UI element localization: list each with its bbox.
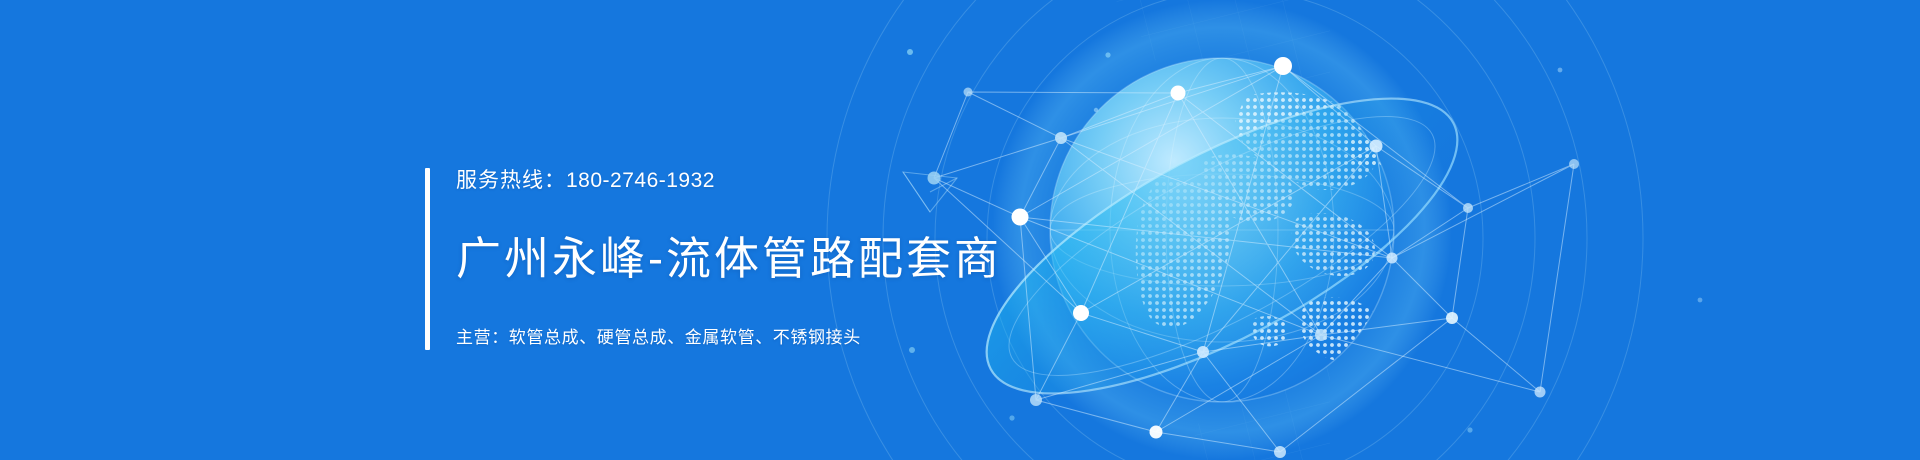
promo-banner: 服务热线：180-2746-1932 广州永峰-流体管路配套商 主营：软管总成、…: [0, 0, 1920, 460]
banner-text-block: 服务热线：180-2746-1932 广州永峰-流体管路配套商 主营：软管总成、…: [425, 168, 1002, 350]
banner-text-column: 服务热线：180-2746-1932 广州永峰-流体管路配套商 主营：软管总成、…: [430, 168, 1002, 350]
hotline-label: 服务热线：: [456, 169, 566, 192]
banner-title: 广州永峰-流体管路配套商: [456, 230, 1002, 288]
hotline-line: 服务热线：180-2746-1932: [456, 168, 1002, 194]
hotline-number: 180-2746-1932: [566, 169, 715, 192]
banner-subtitle: 主营：软管总成、硬管总成、金属软管、不锈钢接头: [456, 326, 1002, 350]
